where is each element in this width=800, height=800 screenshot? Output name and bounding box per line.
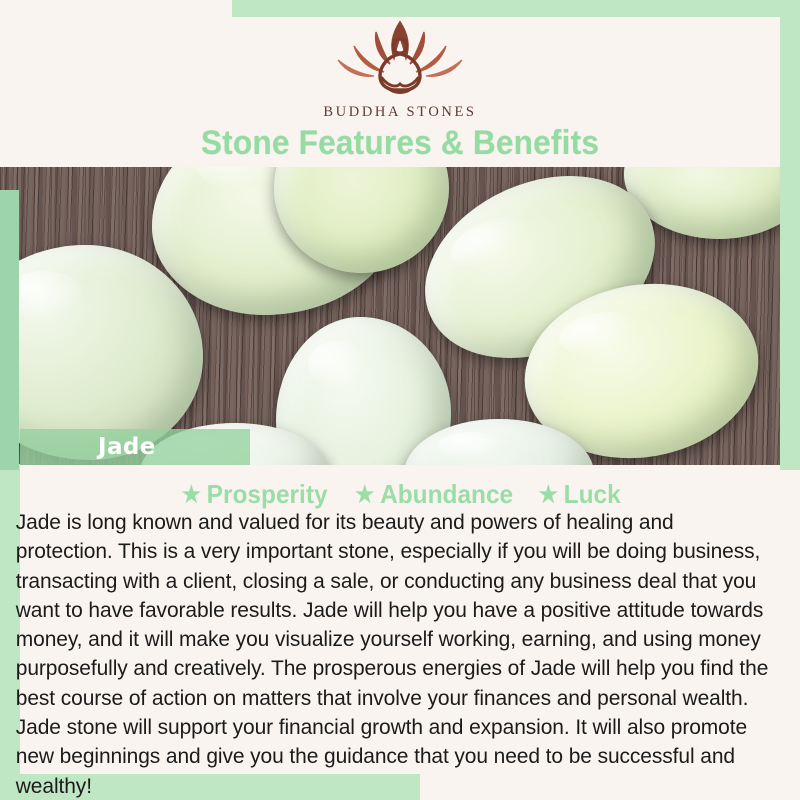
brand-name: BUDDHA STONES xyxy=(0,104,800,121)
benefit-label: Prosperity xyxy=(206,479,327,510)
benefit-item: ★ Luck xyxy=(539,479,621,510)
page-title: Stone Features & Benefits xyxy=(28,124,772,163)
decorative-frame-top xyxy=(232,0,800,17)
benefit-label: Luck xyxy=(564,479,621,510)
stone-name-label: Jade xyxy=(98,434,156,460)
decorative-frame-right xyxy=(780,0,800,470)
star-icon: ★ xyxy=(355,483,374,506)
benefit-item: ★ Abundance xyxy=(355,479,513,510)
decorative-frame-photo-left xyxy=(0,190,19,470)
lotus-meditation-icon xyxy=(316,16,484,102)
benefit-label: Abundance xyxy=(380,479,513,510)
benefit-item: ★ Prosperity xyxy=(181,479,327,510)
stone-name-banner: Jade xyxy=(20,429,250,465)
infographic-card: BUDDHA STONES Stone Features & Benefits … xyxy=(0,0,800,800)
star-icon: ★ xyxy=(181,483,200,506)
jade-stones-photo xyxy=(0,167,800,465)
star-icon: ★ xyxy=(539,483,558,506)
header-section: BUDDHA STONES Stone Features & Benefits xyxy=(0,0,800,167)
brand-logo: BUDDHA STONES xyxy=(0,16,800,121)
stone-description: Jade is long known and valued for its be… xyxy=(0,508,788,800)
